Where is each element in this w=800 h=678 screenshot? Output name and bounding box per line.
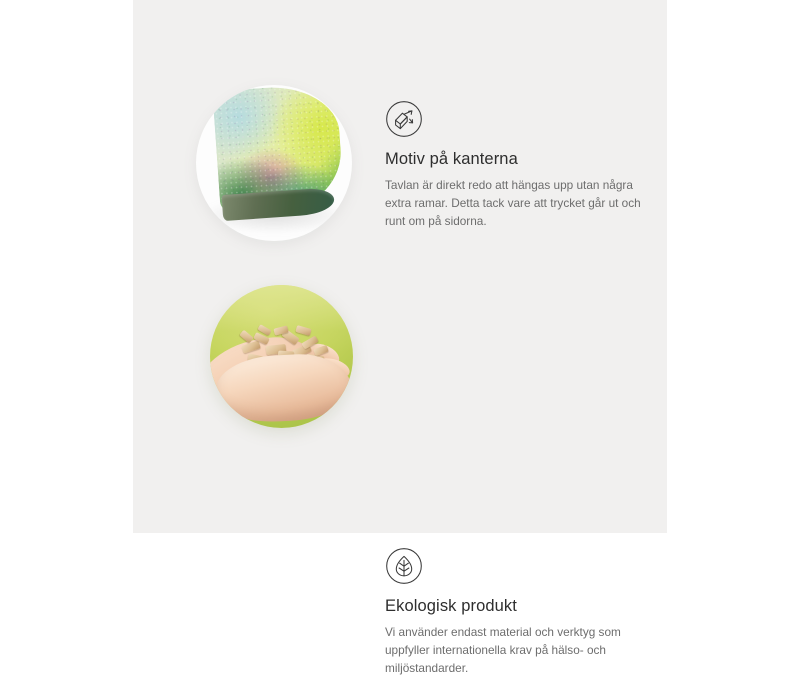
feature-body: Vi använder endast material och verktyg … (385, 624, 657, 678)
feature-title: Ekologisk produkt (385, 597, 657, 617)
feature-block-eco: Ekologisk produkt Vi använder endast mat… (133, 265, 667, 533)
feature-text-edges: Motiv på kanterna Tavlan är direkt redo … (385, 100, 645, 231)
content-panel: Motiv på kanterna Tavlan är direkt redo … (133, 0, 667, 533)
feature-text-eco: Ekologisk produkt Vi använder endast mat… (385, 547, 657, 678)
canvas-print-photo (196, 85, 352, 241)
feature-title: Motiv på kanterna (385, 150, 645, 170)
eco-woodchips-photo (210, 285, 353, 428)
canvas-wrapped-edge-icon (385, 100, 423, 138)
canvas-artwork (212, 85, 345, 231)
leaf-icon (385, 547, 423, 585)
feature-body: Tavlan är direkt redo att hängas upp uta… (385, 177, 645, 231)
product-feature-page: Motiv på kanterna Tavlan är direkt redo … (0, 0, 800, 533)
feature-block-edges: Motiv på kanterna Tavlan är direkt redo … (133, 0, 667, 265)
